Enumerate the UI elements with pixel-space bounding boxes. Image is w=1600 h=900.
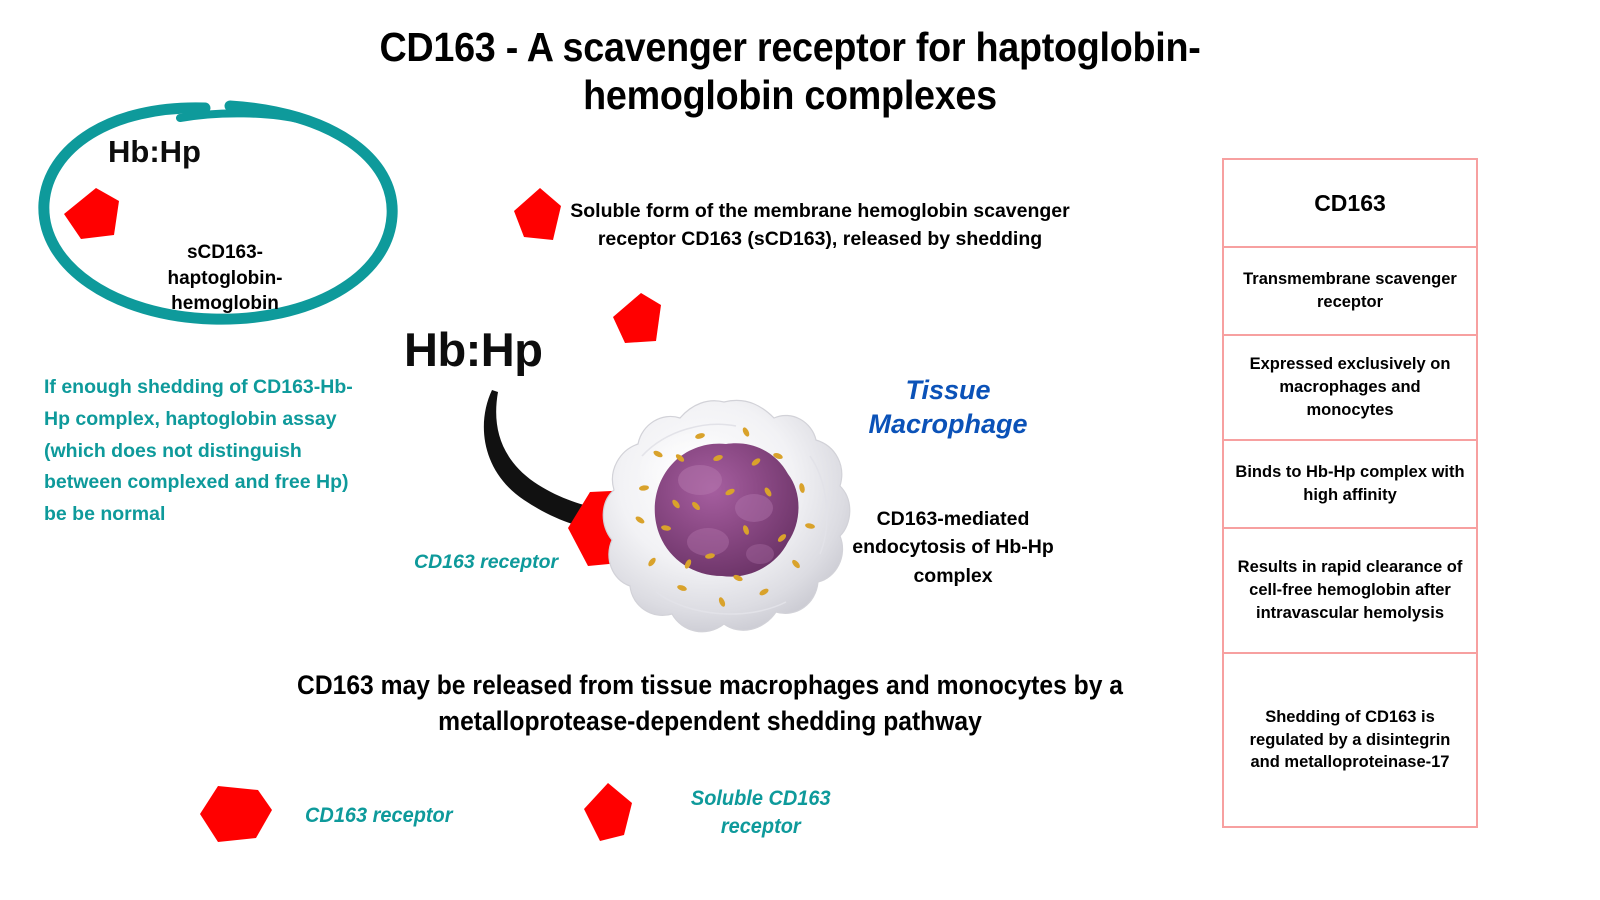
table-row: Results in rapid clearance of cell-free … <box>1224 529 1476 654</box>
soluble-form-note: Soluble form of the membrane hemoglobin … <box>560 197 1080 254</box>
soluble-cd163-shape-free <box>611 291 663 352</box>
table-row: Binds to Hb-Hp complex with high affinit… <box>1224 441 1476 529</box>
table-row: Transmembrane scavenger receptor <box>1224 248 1476 336</box>
hbhp-label-main: Hb:Hp <box>404 322 542 377</box>
legend-label-cd163-receptor: CD163 receptor <box>305 802 452 830</box>
table-row: Expressed exclusively on macrophages and… <box>1224 336 1476 441</box>
table-header-cd163: CD163 <box>1224 160 1476 248</box>
cd163-receptor-shape-in-circle <box>62 188 122 251</box>
slide-canvas: CD163 - A scavenger receptor for haptogl… <box>0 0 1600 900</box>
tissue-macrophage-label: Tissue Macrophage <box>848 374 1048 442</box>
soluble-cd163-shape-top <box>512 188 564 249</box>
page-title: CD163 - A scavenger receptor for haptogl… <box>312 24 1269 120</box>
endocytosis-note: CD163-mediated endocytosis of Hb-Hp comp… <box>838 505 1068 590</box>
cd163-receptor-callout-label: CD163 receptor <box>414 551 558 574</box>
tissue-macrophage-cell-illustration <box>596 396 856 651</box>
table-row: Shedding of CD163 is regulated by a disi… <box>1224 654 1476 826</box>
bottom-statement-text: CD163 may be released from tissue macrop… <box>282 668 1138 740</box>
cd163-facts-table: CD163 Transmembrane scavenger receptor E… <box>1222 158 1478 828</box>
scd163-complex-label: sCD163-haptoglobin-hemoglobin <box>140 240 310 317</box>
legend-shape-cd163-receptor <box>198 784 276 851</box>
hbhp-label-circle: Hb:Hp <box>108 134 201 170</box>
legend-shape-soluble-cd163-receptor <box>582 783 636 848</box>
legend-label-soluble-cd163-receptor: Soluble CD163 receptor <box>680 785 842 842</box>
shedding-note-text: If enough shedding of CD163-Hb-Hp comple… <box>44 372 354 531</box>
